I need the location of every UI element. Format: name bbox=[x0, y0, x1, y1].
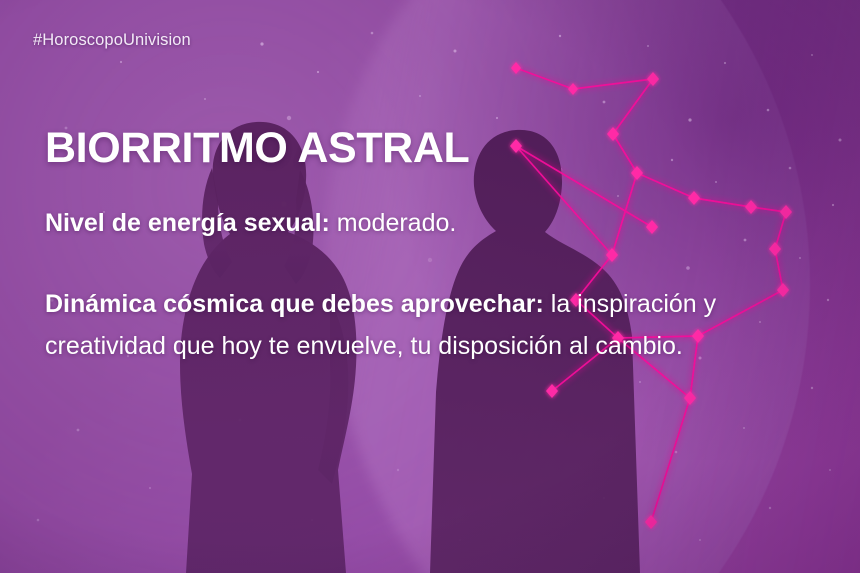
page-title: BIORRITMO ASTRAL bbox=[45, 124, 469, 172]
energy-label: Nivel de energía sexual: bbox=[45, 209, 330, 237]
energy-line: Nivel de energía sexual: moderado. bbox=[45, 202, 785, 244]
horoscope-body: Nivel de energía sexual: moderado. Dinám… bbox=[45, 202, 785, 367]
horoscope-card: #HoroscopoUnivision BIORRITMO ASTRAL Niv… bbox=[0, 0, 860, 573]
dynamic-line: Dinámica cósmica que debes aprovechar: l… bbox=[45, 283, 785, 367]
dynamic-label: Dinámica cósmica que debes aprovechar: bbox=[45, 290, 544, 318]
paragraph-gap bbox=[45, 244, 785, 283]
hashtag-label: #HoroscopoUnivision bbox=[33, 31, 191, 50]
energy-value: moderado. bbox=[330, 209, 456, 237]
